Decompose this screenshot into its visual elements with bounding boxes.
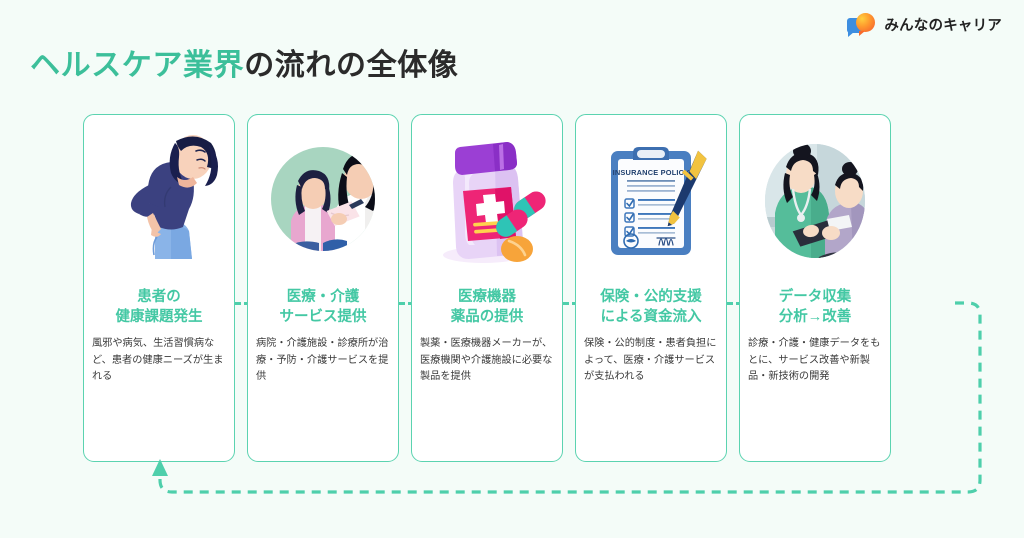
flow-card-title: 医療機器 薬品の提供 [451,287,524,327]
flow-card-row: 患者の 健康課題発生 風邪や病気、生活習慣病など、患者の健康ニーズが生まれる [83,114,891,462]
flow-card-medical-device-drug-supply[interactable]: 医療機器 薬品の提供 製薬・医療機器メーカーが、医療機関や介護施設に必要な製品を… [411,114,563,462]
flow-connector-2-3 [399,302,411,305]
flow-card-patient-health-issue[interactable]: 患者の 健康課題発生 風邪や病気、生活習慣病など、患者の健康ニーズが生まれる [83,114,235,462]
brand-logo-text: みんなのキャリア [884,14,1002,35]
page-title-rest: の流れの全体像 [244,49,458,82]
insurance-policy-clipboard-illustration-icon: INSURANCE POLICY [589,133,714,273]
flow-card-body: 製薬・医療機器メーカーが、医療機関や介護施設に必要な製品を提供 [420,336,554,386]
flow-card-body: 診療・介護・健康データをもとに、サービス改善や新製品・新技術の開発 [748,336,882,386]
flow-card-body: 保険・公的制度・患者負担によって、医療・介護サービスが支払われる [584,336,718,386]
flow-card-medical-care-service[interactable]: 医療・介護 サービス提供 病院・介護施設・診療所が治療・予防・介護サービスを提供 [247,114,399,462]
flow-card-insurance-funding[interactable]: INSURANCE POLICY [575,114,727,462]
nurse-patient-data-illustration-icon [753,133,878,273]
flow-card-title: 患者の 健康課題発生 [116,287,203,327]
woman-back-pain-illustration-icon [97,133,222,273]
flow-connector-4-5 [727,302,739,305]
flow-connector-1-2 [235,302,247,305]
pill-bottle-illustration-icon [425,133,550,273]
flow-card-title: データ収集 分析→改善 [779,287,852,327]
flow-card-title: 保険・公的支援 による資金流入 [600,287,702,327]
flow-connector-3-4 [563,302,575,305]
flow-card-body: 病院・介護施設・診療所が治療・予防・介護サービスを提供 [256,336,390,386]
flow-card-body: 風邪や病気、生活習慣病など、患者の健康ニーズが生まれる [92,336,226,386]
flow-card-data-analysis-improvement[interactable]: データ収集 分析→改善 診療・介護・健康データをもとに、サービス改善や新製品・新… [739,114,891,462]
page-title: ヘルスケア業界の流れの全体像 [30,40,458,84]
brand-logo: みんなのキャリア [847,11,1002,37]
doctor-patient-consultation-illustration-icon [261,133,386,273]
speech-bubble-logo-icon [847,11,877,37]
flow-card-title: 医療・介護 サービス提供 [280,287,367,327]
insurance-policy-label: INSURANCE POLICY [612,168,689,177]
page-title-accent: ヘルスケア業界 [30,49,244,82]
